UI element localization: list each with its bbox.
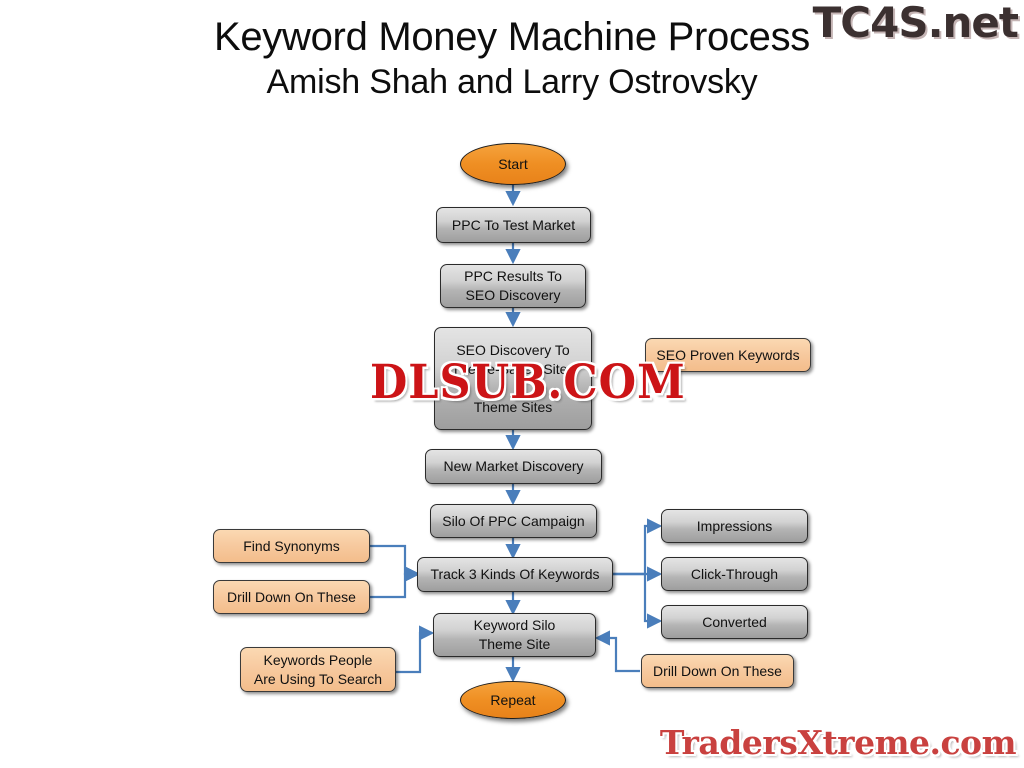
node-converted[interactable]: Converted [661, 605, 808, 639]
node-find-synonyms-label: Find Synonyms [220, 537, 363, 556]
watermark-tradersxtreme: TradersXtreme.com [660, 723, 1016, 762]
node-new-market-discovery[interactable]: New Market Discovery [425, 449, 602, 484]
watermark-tc4s: TC4S.net [813, 0, 1018, 47]
title-line-secondary: Amish Shah and Larry Ostrovsky [0, 60, 1024, 104]
node-keywords-people-are-using-to-search-label: Keywords PeopleAre Using To Search [247, 651, 389, 689]
node-drill-down-on-these-right[interactable]: Drill Down On These [641, 654, 794, 688]
node-new-market-discovery-label: New Market Discovery [432, 457, 595, 476]
node-ppc-results-to-seo-discovery[interactable]: PPC Results ToSEO Discovery [440, 264, 586, 308]
node-keywords-people-are-using-to-search[interactable]: Keywords PeopleAre Using To Search [240, 647, 396, 692]
node-silo-of-ppc-campaign-label: Silo Of PPC Campaign [437, 512, 590, 531]
node-drill-down-on-these-left[interactable]: Drill Down On These [213, 580, 370, 614]
node-ppc-results-to-seo-discovery-label: PPC Results ToSEO Discovery [447, 267, 579, 305]
node-repeat-label: Repeat [467, 691, 559, 710]
node-silo-of-ppc-campaign[interactable]: Silo Of PPC Campaign [430, 504, 597, 538]
node-impressions-label: Impressions [668, 517, 801, 536]
node-track-3-kinds-of-keywords-label: Track 3 Kinds Of Keywords [424, 565, 606, 584]
node-repeat[interactable]: Repeat [460, 681, 566, 719]
node-drill-down-on-these-right-label: Drill Down On These [648, 662, 787, 681]
node-ppc-to-test-market[interactable]: PPC To Test Market [436, 207, 591, 243]
node-keyword-silo-theme-site[interactable]: Keyword SiloTheme Site [433, 613, 596, 657]
node-impressions[interactable]: Impressions [661, 509, 808, 543]
node-ppc-to-test-market-label: PPC To Test Market [443, 216, 584, 235]
node-find-synonyms[interactable]: Find Synonyms [213, 529, 370, 563]
watermark-dlsub: DLSUB.COM [370, 356, 686, 410]
node-converted-label: Converted [668, 613, 801, 632]
node-track-3-kinds-of-keywords[interactable]: Track 3 Kinds Of Keywords [417, 557, 613, 592]
node-click-through[interactable]: Click-Through [661, 557, 808, 591]
node-start-label: Start [467, 155, 559, 174]
node-keyword-silo-theme-site-label: Keyword SiloTheme Site [440, 616, 589, 654]
node-click-through-label: Click-Through [668, 565, 801, 584]
node-drill-down-on-these-left-label: Drill Down On These [220, 588, 363, 607]
node-start[interactable]: Start [460, 143, 566, 185]
